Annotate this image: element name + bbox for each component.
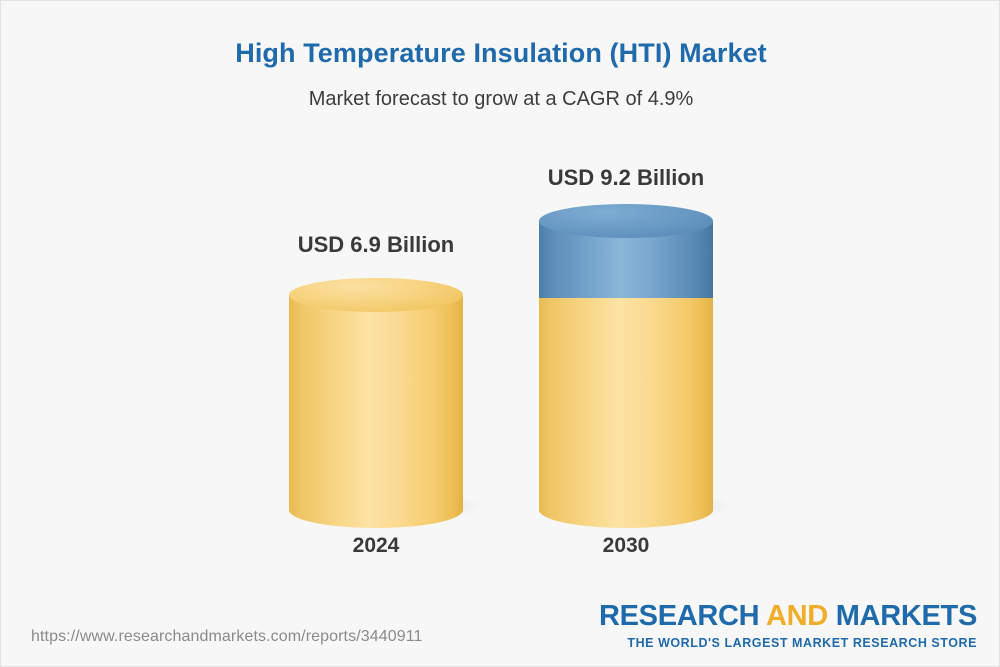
bar-bottom-cap-2030 xyxy=(539,510,713,528)
bar-value-label-2024: USD 6.9 Billion xyxy=(246,232,506,258)
brand-logo[interactable]: RESEARCH AND MARKETS THE WORLD'S LARGEST… xyxy=(599,602,977,650)
logo-word-and: AND xyxy=(759,600,835,632)
logo-wordmark: RESEARCH AND MARKETS xyxy=(599,602,977,631)
bar-cylinder-2030 xyxy=(539,204,713,511)
logo-word-markets: MARKETS xyxy=(836,600,977,632)
infographic-canvas: High Temperature Insulation (HTI) Market… xyxy=(0,0,1000,667)
bar-category-label-2024: 2024 xyxy=(246,534,506,558)
bar-category-label-2030: 2030 xyxy=(496,534,756,558)
bar-bottom-cap-2024 xyxy=(289,510,463,528)
bar-value-label-2030: USD 9.2 Billion xyxy=(496,165,756,191)
chart-plot-area: USD 6.9 Billion 2024 USD 9.2 Billion xyxy=(1,1,1000,667)
bar-segment-base-2030 xyxy=(539,298,713,511)
logo-tagline: THE WORLD'S LARGEST MARKET RESEARCH STOR… xyxy=(599,636,977,650)
bar-segment-base-2024 xyxy=(289,295,463,511)
report-url[interactable]: https://www.researchandmarkets.com/repor… xyxy=(31,628,423,646)
bar-top-cap-2030 xyxy=(539,204,713,238)
bar-cylinder-2024 xyxy=(289,278,463,511)
bar-top-cap-2024 xyxy=(289,278,463,312)
logo-word-research: RESEARCH xyxy=(599,600,759,632)
